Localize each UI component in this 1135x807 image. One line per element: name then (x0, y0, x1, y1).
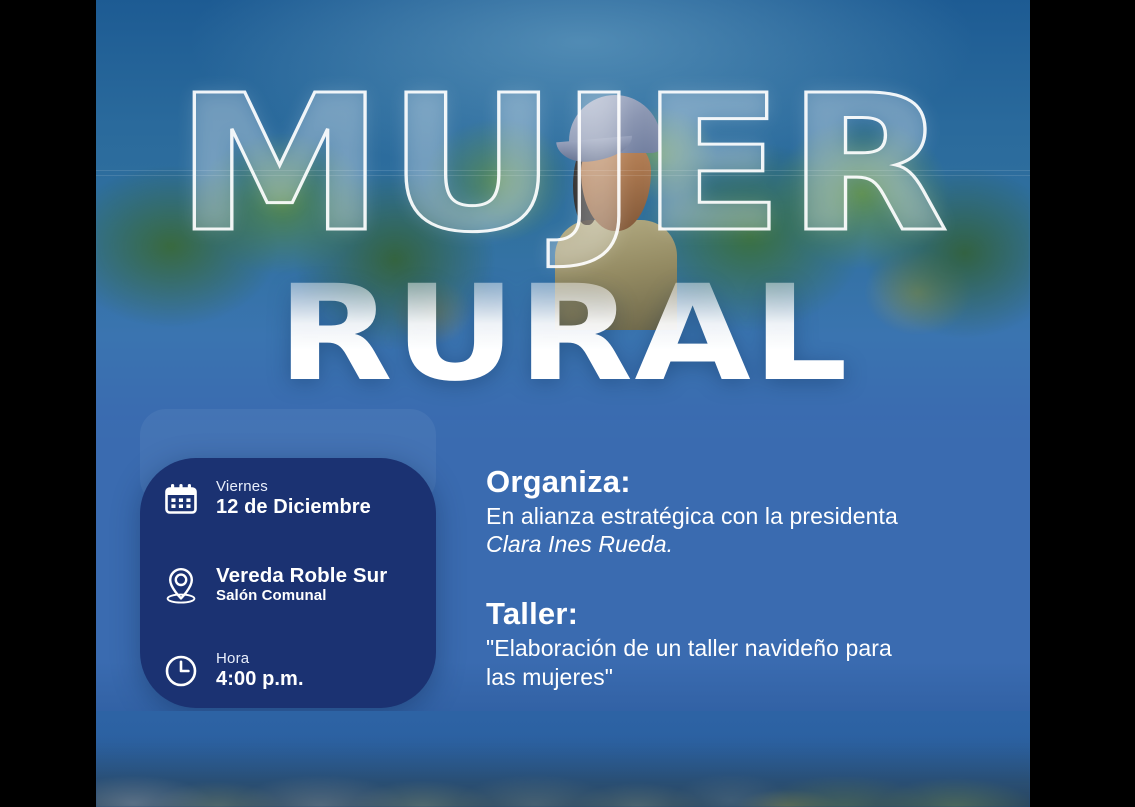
event-info-rows: Viernes 12 de Diciembre Vereda Ro (160, 478, 422, 692)
photo-seam-line (96, 170, 1030, 171)
info-row-date-text: Viernes 12 de Diciembre (216, 479, 371, 518)
clock-icon (160, 650, 202, 692)
event-info-card: Viernes 12 de Diciembre Vereda Ro (140, 458, 436, 708)
time-value: 4:00 p.m. (216, 668, 304, 690)
date-value: 12 de Diciembre (216, 496, 371, 518)
info-row-date: Viernes 12 de Diciembre (160, 478, 422, 520)
bottom-fade-overlay (96, 711, 1030, 807)
organiza-line-1: En alianza estratégica con la presidenta (486, 502, 956, 531)
poster-root: MUJER MUJER RURAL (0, 0, 1135, 807)
info-row-time: Hora 4:00 p.m. (160, 650, 422, 692)
organiza-line-2: Clara Ines Rueda. (486, 530, 956, 559)
location-pin-icon (160, 564, 202, 606)
hero-photo (96, 0, 1030, 420)
taller-heading: Taller: (486, 597, 956, 632)
taller-line-2: las mujeres" (486, 663, 956, 692)
details-spacer (486, 559, 956, 597)
photo-seam-line (96, 175, 1030, 176)
calendar-icon (160, 478, 202, 520)
date-weekday-label: Viernes (216, 479, 371, 496)
info-row-time-text: Hora 4:00 p.m. (216, 651, 304, 690)
subject-torso (555, 220, 677, 330)
taller-line-1: "Elaboración de un taller navideño para (486, 634, 956, 663)
location-value: Vereda Roble Sur (216, 565, 387, 588)
info-row-location-text: Vereda Roble Sur Salón Comunal (216, 565, 387, 605)
bottom-landscape-strip (96, 711, 1030, 807)
info-row-location: Vereda Roble Sur Salón Comunal (160, 564, 422, 606)
photo-woman-subject (551, 95, 681, 325)
details-block: Organiza: En alianza estratégica con la … (486, 465, 956, 691)
time-label: Hora (216, 651, 304, 668)
organiza-heading: Organiza: (486, 465, 956, 500)
poster-canvas: MUJER MUJER RURAL (96, 0, 1030, 807)
location-sublabel: Salón Comunal (216, 588, 387, 605)
